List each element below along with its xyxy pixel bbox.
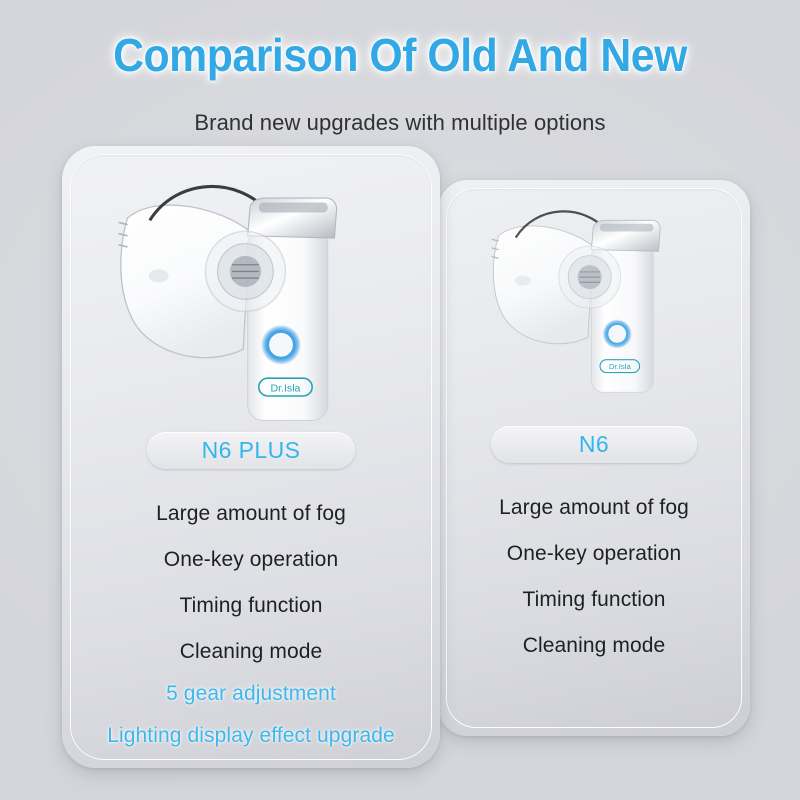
comparison-infographic: Comparison Of Old And New Brand new upgr… bbox=[0, 0, 800, 800]
model-badge-n6-plus: N6 PLUS bbox=[147, 432, 355, 469]
feature-list-n6-plus: Large amount of fog One-key operation Ti… bbox=[70, 481, 432, 749]
page-subtitle: Brand new upgrades with multiple options bbox=[0, 108, 800, 138]
feature-item: Large amount of fog bbox=[499, 495, 689, 521]
nebulizer-illustration: Dr.Isla bbox=[112, 168, 390, 426]
nebulizer-icon: Dr.Isla bbox=[487, 198, 702, 396]
svg-text:Dr.Isla: Dr.Isla bbox=[609, 362, 632, 371]
feature-item: One-key operation bbox=[164, 547, 338, 573]
feature-item: Timing function bbox=[179, 593, 322, 619]
feature-item: Timing function bbox=[522, 587, 665, 613]
feature-item: Cleaning mode bbox=[180, 639, 323, 665]
page-title: Comparison Of Old And New bbox=[28, 28, 772, 82]
product-image-n6: Dr.Isla bbox=[446, 188, 742, 420]
feature-item-exclusive: 5 gear adjustment bbox=[166, 681, 336, 707]
product-card-n6-plus[interactable]: Dr.Isla N6 PLUS Large amount of fog One-… bbox=[62, 146, 440, 768]
feature-item: One-key operation bbox=[507, 541, 681, 567]
card-content: Dr.Isla N6 PLUS Large amount of fog One-… bbox=[70, 154, 432, 760]
feature-item: Cleaning mode bbox=[523, 633, 666, 659]
feature-item: Large amount of fog bbox=[156, 501, 346, 527]
feature-item-exclusive: Lighting display effect upgrade bbox=[107, 723, 395, 749]
nebulizer-icon: Dr.Isla bbox=[112, 168, 390, 426]
nebulizer-illustration: Dr.Isla bbox=[487, 198, 702, 396]
model-badge-n6: N6 bbox=[491, 426, 697, 463]
card-content: Dr.Isla N6 Large amount of fog One-key o… bbox=[446, 188, 742, 728]
product-image-n6-plus: Dr.Isla bbox=[70, 154, 432, 426]
svg-text:Dr.Isla: Dr.Isla bbox=[271, 383, 301, 395]
feature-list-n6: Large amount of fog One-key operation Ti… bbox=[446, 475, 742, 659]
product-card-n6[interactable]: Dr.Isla N6 Large amount of fog One-key o… bbox=[438, 180, 750, 736]
